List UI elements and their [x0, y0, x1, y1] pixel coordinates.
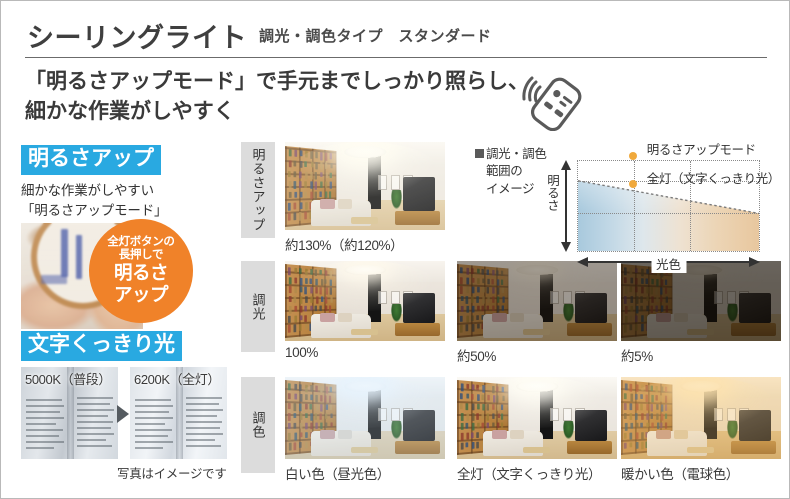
book-spine: [305, 385, 308, 393]
scene-cell: 全灯（文字くっきり光）: [457, 377, 617, 459]
row-tab-dimming: 調光: [241, 261, 275, 352]
badge-line-1: 全灯ボタンの: [107, 236, 174, 249]
book-spine: [496, 270, 498, 275]
book-spine: [635, 324, 638, 331]
book-spine: [502, 305, 504, 310]
annotation-brightness-up-mode: 明るさアップモード: [647, 139, 756, 158]
wall-art: [391, 175, 401, 189]
tv-stand: [395, 211, 440, 225]
wall-art: [563, 408, 573, 421]
book-spine: [665, 288, 667, 294]
book-spine: [305, 151, 308, 157]
book-spine: [288, 413, 291, 421]
scene-cell: 100%: [285, 261, 445, 341]
book-spine: [466, 394, 469, 399]
television: [403, 293, 435, 323]
book-spine: [636, 404, 639, 411]
book-spine: [492, 297, 494, 304]
book-spine: [293, 296, 296, 303]
book-spine: [646, 385, 649, 392]
cushion: [656, 313, 670, 322]
book-spine: [487, 423, 489, 429]
book-spine: [623, 433, 626, 439]
book-spine: [466, 325, 469, 331]
book-spine: [299, 442, 302, 449]
book-spine: [665, 387, 667, 393]
book-spine: [315, 288, 317, 294]
book-spine: [466, 306, 469, 313]
book-spine: [631, 296, 634, 302]
book-spine: [640, 423, 643, 428]
book-spine: [315, 413, 317, 419]
header: シーリングライト 調光・調色タイプ スタンダード: [1, 1, 789, 59]
page-subtitle: 調光・調色タイプ スタンダード: [259, 25, 492, 46]
wall-art: [378, 291, 388, 304]
row-tab-color-tuning: 調色: [241, 377, 275, 473]
book-spine: [319, 414, 321, 421]
book-spine: [497, 279, 499, 285]
book-spine: [476, 442, 479, 449]
book-spine: [314, 270, 316, 276]
book-spine: [501, 279, 503, 285]
book-spine: [476, 296, 479, 302]
scene-caption: 全灯（文字くっきり光）: [457, 463, 601, 483]
book-spine: [294, 384, 297, 390]
book-spine: [635, 296, 638, 304]
book-spine: [646, 404, 649, 411]
book-spine: [295, 150, 298, 157]
ceiling-light-fixture: [680, 381, 722, 392]
book-spine: [661, 387, 663, 394]
book-label-6200k: 6200K（全灯）: [134, 369, 220, 388]
book-spine: [472, 287, 475, 293]
book-spine: [330, 181, 332, 188]
tv-stand: [731, 441, 776, 454]
book-spine: [315, 181, 317, 189]
coffee-table: [523, 447, 550, 454]
book-spine: [497, 405, 499, 412]
book-spine: [466, 413, 469, 421]
book-spine: [647, 297, 650, 302]
book-spine: [311, 161, 314, 167]
book-spine: [299, 268, 302, 274]
book-spine: [320, 191, 322, 197]
annotation-full-light: 全灯（文字くっきり光）: [647, 168, 780, 187]
book-spine: [493, 306, 495, 311]
book-spine: [646, 278, 649, 284]
grid-row-dimming: 調光: [241, 261, 781, 371]
book-spine: [471, 306, 474, 313]
book-spine: [625, 423, 628, 431]
scene-photo: [621, 261, 781, 341]
television: [575, 410, 607, 441]
book-spine: [305, 413, 308, 418]
book-spine: [465, 423, 468, 429]
book-spine: [310, 171, 313, 179]
book-spine: [630, 325, 633, 331]
book-spine: [330, 405, 332, 410]
book-spine: [482, 404, 485, 411]
wall-art: [550, 408, 560, 421]
book-spine: [325, 414, 327, 419]
wall-art: [714, 408, 724, 421]
book-spine: [641, 432, 644, 440]
wall-art: [378, 175, 388, 189]
book-spine: [310, 385, 313, 392]
book-spine: [294, 325, 297, 333]
book-spine: [666, 305, 668, 312]
book-spine: [325, 405, 327, 411]
book-spine: [460, 277, 463, 285]
book-spine: [665, 414, 667, 420]
cushion: [338, 199, 352, 209]
book-spine: [289, 277, 292, 284]
book-spine: [300, 191, 303, 197]
book-spine: [496, 396, 498, 403]
book-spine: [294, 268, 297, 273]
book-spine: [324, 279, 326, 284]
book-spine: [320, 181, 322, 188]
book-spine: [635, 278, 638, 285]
book-spine: [330, 172, 332, 178]
badge-line-2: 長押しで: [119, 249, 163, 262]
x-axis: 光色: [577, 254, 760, 270]
book-spine: [315, 151, 317, 158]
tv-stand: [395, 323, 440, 336]
book-spine: [661, 297, 663, 302]
book-spine: [661, 414, 663, 421]
book-spine: [320, 152, 322, 160]
book-spine: [487, 306, 489, 311]
book-spine: [461, 443, 464, 450]
book-spine: [482, 278, 485, 284]
plant: [391, 304, 402, 322]
scene-photo: [285, 377, 445, 459]
book-spine: [477, 324, 480, 329]
book-spine: [471, 268, 474, 274]
book-spine: [651, 297, 653, 303]
book-spine: [330, 387, 332, 392]
book-spine: [315, 423, 317, 430]
book-spine: [487, 288, 489, 294]
book-spine: [472, 442, 475, 449]
cushion: [338, 430, 352, 439]
book-spine: [665, 405, 667, 411]
book-spine: [656, 297, 658, 303]
book-spine: [288, 325, 291, 333]
book-spine: [656, 306, 658, 313]
plant: [563, 304, 574, 322]
book-spine: [624, 443, 627, 449]
wall-art: [714, 291, 724, 304]
book-spine: [660, 423, 662, 429]
data-point-full-light: [629, 180, 637, 188]
book-spine: [294, 160, 297, 166]
chart-caption-line-3: イメージ: [475, 181, 547, 198]
long-press-badge: 全灯ボタンの 長押しで 明るさ アップ: [89, 219, 193, 323]
book-spine: [459, 393, 462, 400]
book-spine: [625, 384, 628, 391]
book-spine: [325, 423, 327, 429]
book-spine: [329, 153, 331, 159]
moji-clear-section: 文字くっきり光: [21, 331, 235, 361]
book-spine: [641, 315, 644, 322]
cushion: [320, 430, 334, 439]
book-spine: [325, 297, 327, 304]
book-spine: [502, 387, 504, 392]
bullet-square-icon: [475, 149, 484, 158]
book-spine: [300, 150, 303, 156]
book-spine: [294, 306, 297, 312]
book-spine: [460, 413, 463, 421]
book-spine: [502, 396, 504, 401]
television: [403, 410, 435, 441]
book-spine: [310, 181, 313, 188]
scene-cell: 約50%: [457, 261, 617, 341]
book-spine: [471, 315, 474, 322]
book-spine: [330, 279, 332, 286]
scene-cell: 白い色（昼光色）: [285, 377, 445, 459]
book-spine: [300, 296, 303, 303]
book-spine: [482, 306, 485, 312]
book-spine: [641, 385, 644, 390]
book-spine: [300, 413, 303, 420]
book-spine: [299, 384, 302, 391]
book-spine: [305, 442, 308, 449]
triangle-right-icon: [117, 405, 129, 423]
book-spine: [477, 269, 480, 274]
scene-caption: 約50%: [457, 345, 496, 365]
book-spine: [311, 269, 314, 274]
book-spine: [287, 383, 290, 390]
book-spine: [320, 306, 322, 311]
book-spine: [288, 191, 291, 197]
book-spine: [492, 386, 494, 393]
book-spine: [493, 395, 495, 402]
scene-caption: 暖かい色（電球色）: [621, 463, 739, 483]
book-spine: [635, 394, 638, 400]
book-spine: [305, 201, 308, 209]
book-spine: [472, 413, 475, 421]
scene-caption: 100%: [285, 345, 318, 360]
book-spine: [501, 271, 503, 276]
product-feature-panel: シーリングライト 調光・調色タイプ スタンダード 「明るさアップモード」で手元ま…: [0, 0, 790, 499]
book-spine: [325, 191, 327, 197]
tv-stand: [395, 441, 440, 454]
book-spine: [305, 296, 308, 303]
book-spine: [630, 287, 633, 293]
book-spine: [293, 442, 296, 450]
book-spine: [293, 423, 296, 429]
book-spine: [330, 414, 332, 419]
book-spine: [305, 181, 308, 187]
book-spine: [497, 423, 499, 429]
book-label-5000k: 5000K（普段）: [25, 369, 111, 388]
book-photo-5000k: 5000K（普段）: [21, 367, 118, 459]
book-spine: [310, 413, 313, 420]
book-spine: [320, 404, 322, 411]
book-spine: [465, 442, 468, 448]
book-spine: [304, 161, 307, 167]
book-spine: [310, 297, 313, 304]
book-spine: [650, 386, 652, 392]
book-spine: [492, 288, 494, 294]
book-spine: [661, 279, 663, 286]
book-spine: [300, 315, 303, 321]
ceiling-light-fixture: [344, 381, 386, 392]
coffee-table: [351, 329, 378, 335]
book-spine: [492, 270, 494, 276]
scene-caption: 約5%: [621, 345, 653, 365]
book-spine: [465, 403, 468, 410]
book-spine: [310, 404, 313, 409]
book-spine: [310, 278, 313, 284]
book-spine: [482, 269, 485, 275]
scene-caption: 白い色（昼光色）: [285, 463, 390, 483]
book-spine: [635, 413, 638, 420]
tv-stand: [731, 323, 776, 336]
wall-art: [550, 291, 560, 304]
book-spine: [289, 160, 292, 167]
book-spine: [630, 306, 633, 313]
book-spine: [497, 288, 499, 295]
book-spine: [329, 305, 331, 312]
book-spine: [300, 287, 303, 292]
book-spine: [471, 278, 474, 283]
lead-copy-line-2: 細かな作業がしやすく: [25, 97, 529, 127]
cushion: [338, 313, 352, 322]
book-spine: [661, 405, 663, 412]
scene-cell: 約130%（約120%）: [285, 142, 445, 230]
book-spine: [646, 395, 649, 403]
book-spine: [330, 423, 332, 428]
data-point-brightness-up-mode: [629, 152, 637, 160]
book-spine: [321, 395, 323, 402]
book-spine: [482, 385, 485, 393]
book-spine: [635, 384, 638, 391]
book-spine: [624, 306, 627, 314]
book-spine: [289, 149, 292, 156]
book-spine: [656, 404, 658, 409]
living-room-scene: [621, 377, 781, 459]
book-spine: [625, 315, 628, 322]
cushion: [320, 199, 334, 209]
book-spine: [488, 297, 490, 304]
book-spine: [305, 278, 308, 284]
wall-art: [727, 291, 737, 304]
book-spine: [624, 296, 627, 303]
chart-caption-line-1: 調光・調色: [475, 146, 547, 163]
chart-caption-line-2: 範囲の: [475, 163, 547, 180]
book-spine: [294, 394, 297, 400]
book-spine: [295, 315, 298, 322]
book-spine: [624, 325, 627, 333]
brightness-up-description-line-2: 「明るさアップモード」: [21, 201, 167, 221]
book-spine: [501, 414, 503, 421]
book-spine: [624, 413, 627, 419]
book-spine: [629, 315, 632, 322]
book-spine: [650, 288, 652, 295]
cushion: [656, 430, 670, 439]
book-spine: [465, 296, 468, 303]
book-spine: [471, 432, 474, 438]
book-spine: [646, 423, 649, 428]
wall-art: [391, 408, 401, 421]
book-spine: [299, 181, 302, 188]
book-spine: [624, 393, 627, 399]
book-spine: [665, 396, 667, 403]
television: [575, 293, 607, 323]
book-spine: [324, 396, 326, 403]
book-spine: [636, 432, 639, 439]
book-spine: [325, 270, 327, 276]
cushion: [674, 430, 688, 439]
moji-clear-banner: 文字くっきり光: [21, 331, 182, 361]
book-spine: [288, 393, 291, 399]
book-spine: [483, 287, 486, 293]
y-axis-label: 明るさ: [543, 174, 562, 212]
book-spine: [304, 287, 307, 295]
coffee-table: [523, 329, 550, 335]
book-spine: [492, 404, 494, 410]
book-spine: [294, 212, 297, 219]
wall-art: [378, 408, 388, 421]
book-spine: [315, 161, 317, 168]
scene-cell: 約5%: [621, 261, 781, 341]
book-spine: [497, 414, 499, 419]
cushion: [510, 313, 524, 322]
brightness-up-description: 細かな作業がしやすい 「明るさアップモード」: [21, 181, 167, 220]
book-spine: [640, 306, 643, 312]
book-spine: [625, 287, 628, 295]
book-spine: [477, 278, 480, 284]
book-spine: [299, 171, 302, 178]
remote-control-icon: [506, 69, 596, 131]
book-spine: [635, 315, 638, 322]
book-spine: [660, 396, 662, 402]
book-spine: [501, 423, 503, 429]
book-spine: [288, 296, 291, 302]
book-spine: [487, 279, 489, 285]
book-spine: [471, 394, 474, 400]
book-spine: [624, 277, 627, 284]
book-spine: [305, 306, 308, 312]
grid-row-color-tuning: 調色: [241, 377, 781, 492]
title-divider: [25, 57, 767, 58]
badge-line-3: 明るさ: [114, 263, 168, 284]
book-spine: [641, 442, 644, 450]
book-spine: [501, 405, 503, 411]
book-spine: [460, 267, 463, 274]
book-spine: [461, 384, 464, 392]
book-spine: [311, 395, 314, 401]
book-spine: [641, 296, 644, 302]
book-spine: [293, 202, 296, 210]
living-room-scene: [457, 377, 617, 459]
book-spine: [299, 212, 302, 220]
book-spine: [477, 287, 480, 292]
book-spine: [321, 297, 323, 303]
book-spine: [472, 404, 475, 411]
book-spine: [476, 315, 479, 320]
book-spine: [630, 394, 633, 402]
cushion: [320, 313, 334, 322]
book-spine: [305, 394, 308, 400]
book-spine: [325, 305, 327, 310]
brightness-up-banner: 明るさアップ: [21, 145, 161, 175]
book-spine: [325, 162, 327, 169]
book-spine: [300, 423, 303, 429]
